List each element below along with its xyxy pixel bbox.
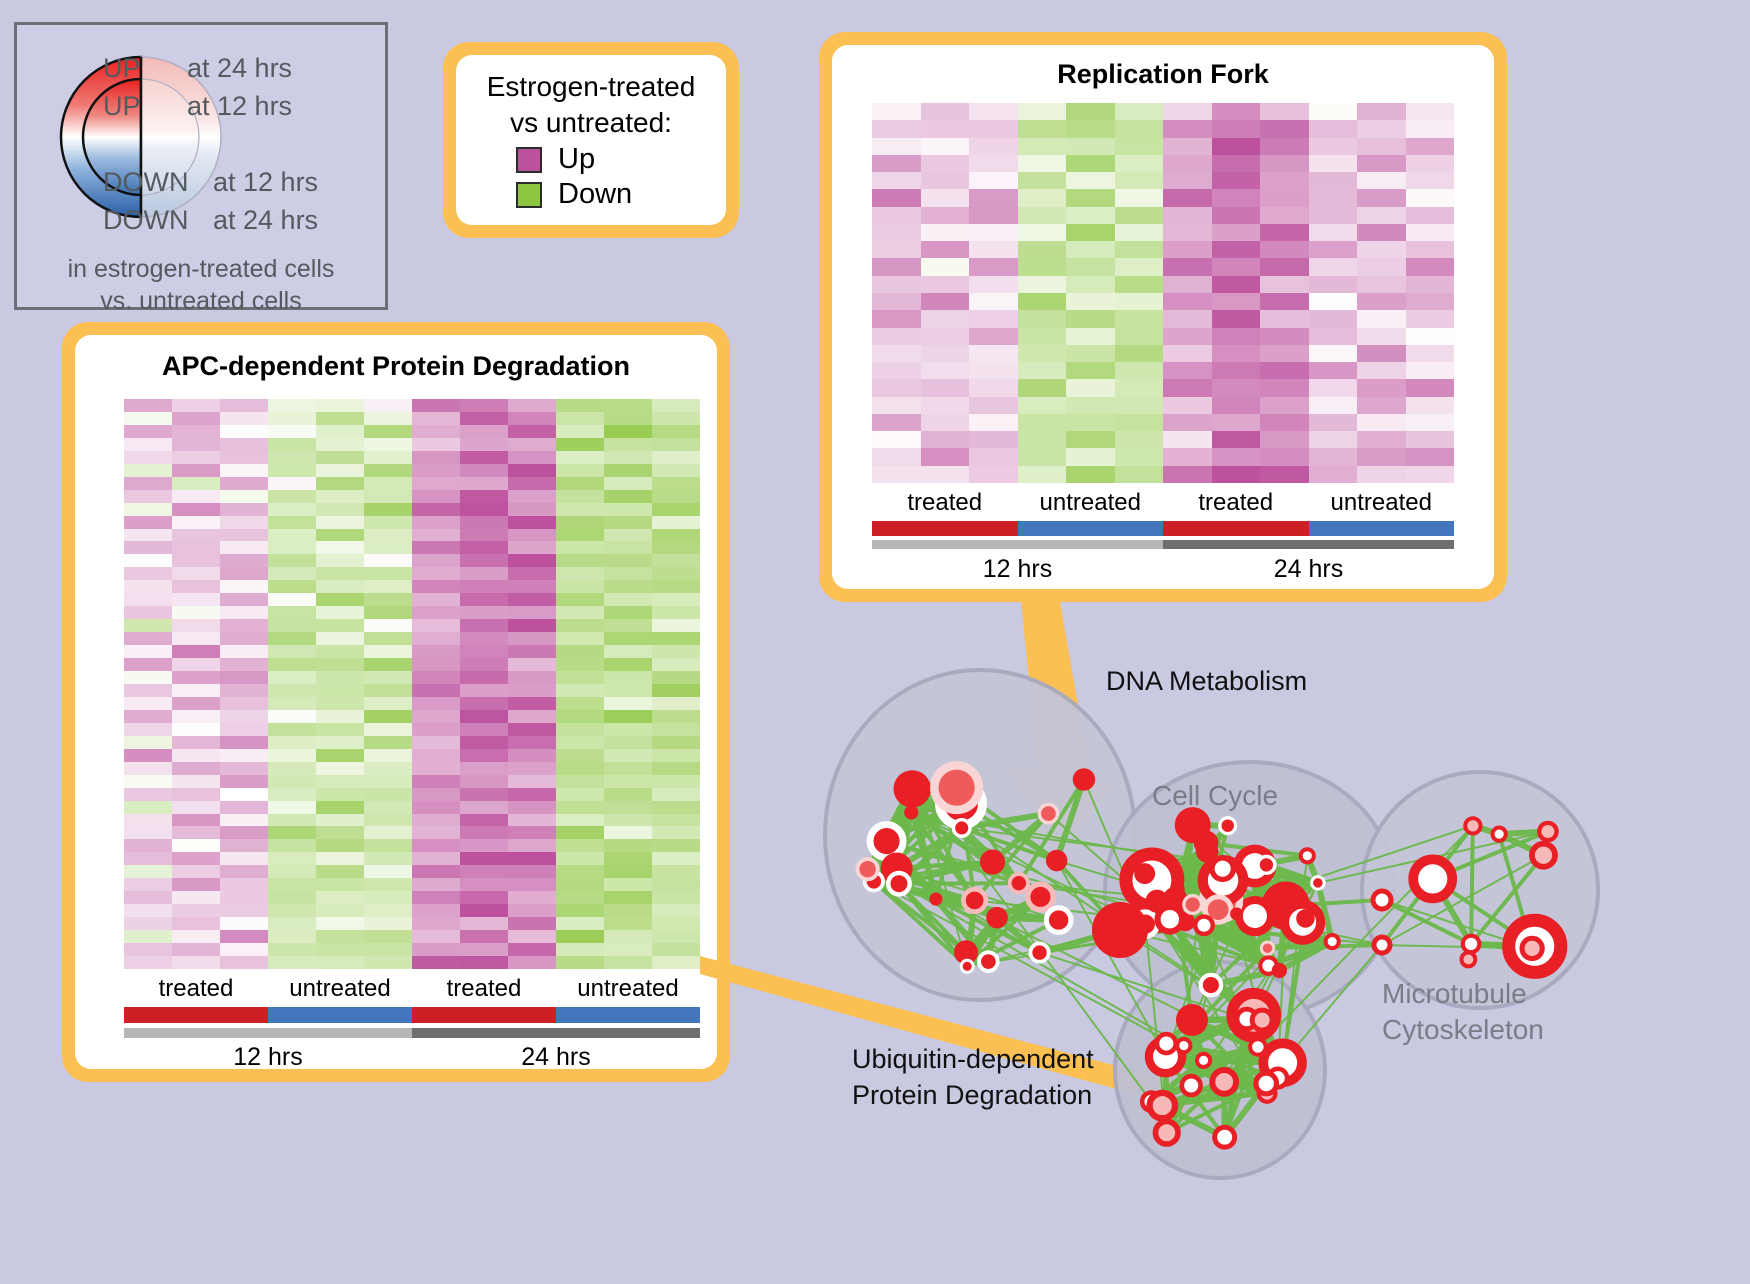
cluster-label-ubiquitin-line2: Protein Degradation xyxy=(852,1080,1092,1111)
time-label-24hrs: 24 hrs xyxy=(412,1043,700,1069)
replication-fork-title: Replication Fork xyxy=(832,59,1494,90)
group-label: treated xyxy=(872,489,1018,517)
group-label: treated xyxy=(412,975,556,1003)
bar-treated-12 xyxy=(872,521,1018,536)
group-label: untreated xyxy=(268,975,412,1003)
replication-fork-treatment-bar xyxy=(872,521,1454,536)
legend-title: Estrogen-treated vs untreated: xyxy=(456,69,726,141)
bar-24hrs xyxy=(412,1028,700,1038)
replication-fork-group-labels: treated untreated treated untreated xyxy=(872,489,1454,517)
time-label-24hrs: 24 hrs xyxy=(1163,555,1454,584)
bar-treated-24 xyxy=(412,1007,556,1023)
cluster-label-ubiquitin-line1: Ubiquitin-dependent xyxy=(852,1044,1094,1075)
legend-title-line1: Estrogen-treated xyxy=(456,69,726,105)
group-label: untreated xyxy=(556,975,700,1003)
cluster-label-dna-metabolism: DNA Metabolism xyxy=(1106,666,1307,697)
color-key-time-down-24: at 24 hrs xyxy=(213,205,318,236)
color-key-label-down-24: DOWN xyxy=(103,205,188,236)
cluster-label-microtubule: Microtubule xyxy=(1382,978,1527,1010)
color-key-footer: in estrogen-treated cells vs. untreated … xyxy=(17,253,385,317)
bar-untreated-24 xyxy=(1309,521,1455,536)
color-key-time-up-24: at 24 hrs xyxy=(187,53,292,84)
color-key-footer-line2: vs. untreated cells xyxy=(17,285,385,317)
color-key-label-up-24: UP xyxy=(103,53,141,84)
legend-title-line2: vs untreated: xyxy=(456,105,726,141)
group-label: untreated xyxy=(1309,489,1455,517)
apc-time-bar xyxy=(124,1028,700,1038)
bar-untreated-12 xyxy=(268,1007,412,1023)
cluster-label-cell-cycle: Cell Cycle xyxy=(1152,780,1278,812)
bar-untreated-24 xyxy=(556,1007,700,1023)
legend-item-down: Down xyxy=(456,178,726,211)
color-key-label-up-12: UP xyxy=(103,91,141,122)
legend-item-up: Up xyxy=(456,143,726,176)
network-graph xyxy=(790,600,1750,1279)
pathway-network: DNA Metabolism Cell Cycle Microtubule Cy… xyxy=(790,600,1750,1279)
color-key-time-up-12: at 12 hrs xyxy=(187,91,292,122)
legend-label-up: Up xyxy=(558,143,666,176)
apc-heatmap xyxy=(124,399,700,969)
bar-treated-12 xyxy=(124,1007,268,1023)
color-key-time-down-12: at 12 hrs xyxy=(213,167,318,198)
legend-card: Estrogen-treated vs untreated: Up Down xyxy=(443,42,739,238)
apc-time-labels: 12 hrs 24 hrs xyxy=(124,1043,700,1069)
color-key-label-down-12: DOWN xyxy=(103,167,188,198)
apc-panel: APC-dependent Protein Degradation treate… xyxy=(62,322,730,1082)
replication-fork-panel: Replication Fork treated untreated treat… xyxy=(819,32,1507,602)
replication-fork-heatmap xyxy=(872,103,1454,483)
time-label-12hrs: 12 hrs xyxy=(124,1043,412,1069)
bar-untreated-12 xyxy=(1018,521,1164,536)
legend-label-down: Down xyxy=(558,178,666,211)
legend-swatch-down xyxy=(516,182,542,208)
group-label: treated xyxy=(124,975,268,1003)
group-label: treated xyxy=(1163,489,1309,517)
cluster-label-cytoskeleton: Cytoskeleton xyxy=(1382,1014,1544,1046)
replication-fork-time-labels: 12 hrs 24 hrs xyxy=(872,555,1454,584)
group-label: untreated xyxy=(1018,489,1164,517)
bar-12hrs xyxy=(124,1028,412,1038)
color-key-footer-line1: in estrogen-treated cells xyxy=(17,253,385,285)
color-key-box: UP at 24 hrs UP at 12 hrs DOWN at 12 hrs… xyxy=(14,22,388,310)
bar-24hrs xyxy=(1163,540,1454,549)
apc-treatment-bar xyxy=(124,1007,700,1023)
apc-group-labels: treated untreated treated untreated xyxy=(124,975,700,1003)
bar-12hrs xyxy=(872,540,1163,549)
replication-fork-time-bar xyxy=(872,540,1454,549)
time-label-12hrs: 12 hrs xyxy=(872,555,1163,584)
bar-treated-24 xyxy=(1163,521,1309,536)
legend-swatch-up xyxy=(516,147,542,173)
apc-title: APC-dependent Protein Degradation xyxy=(75,351,717,382)
